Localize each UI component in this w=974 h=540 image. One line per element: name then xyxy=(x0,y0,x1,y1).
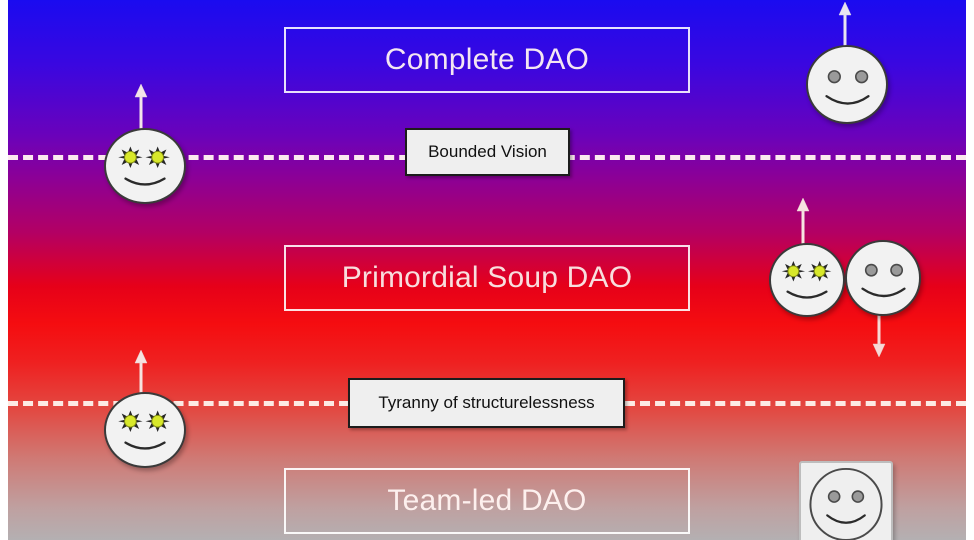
right-margin xyxy=(966,0,974,540)
stage-label-team-led-dao: Team-led DAO xyxy=(387,484,586,518)
smiley-face-star-eyes-icon xyxy=(104,128,186,204)
stage-box-team-led-dao[interactable]: Team-led DAO xyxy=(284,468,690,534)
smiley-face-dot-eyes-icon xyxy=(806,45,888,124)
stage-label-complete-dao: Complete DAO xyxy=(385,43,589,77)
threshold-label-bounded-vision[interactable]: Bounded Vision xyxy=(405,128,570,176)
stage-label-primordial-soup-dao: Primordial Soup DAO xyxy=(342,261,633,295)
stage-box-complete-dao[interactable]: Complete DAO xyxy=(284,27,690,93)
threshold-label-text-tyranny: Tyranny of structurelessness xyxy=(378,393,594,413)
slide-canvas: Complete DAO Primordial Soup DAO Team-le… xyxy=(0,0,974,540)
smiley-face-dot-eyes-icon xyxy=(845,240,921,316)
threshold-label-tyranny[interactable]: Tyranny of structurelessness xyxy=(348,378,625,428)
smiley-face-star-eyes-icon xyxy=(769,243,845,317)
smiley-face-dot-eyes-boxed-icon xyxy=(799,461,893,540)
stage-box-primordial-soup-dao[interactable]: Primordial Soup DAO xyxy=(284,245,690,311)
smiley-face-star-eyes-icon xyxy=(104,392,186,468)
threshold-label-text-bounded-vision: Bounded Vision xyxy=(428,142,547,162)
